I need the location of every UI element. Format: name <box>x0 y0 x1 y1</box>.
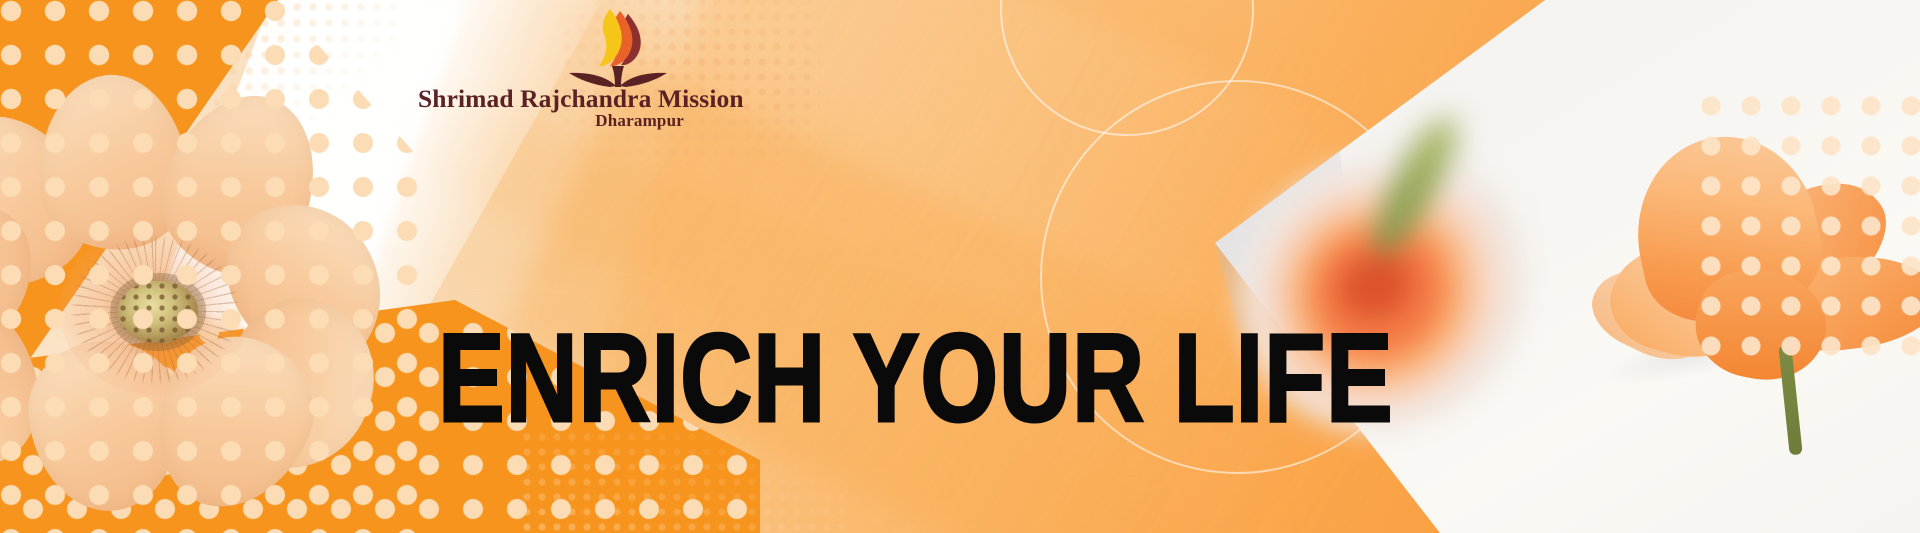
flame-over-open-book-icon <box>566 8 670 88</box>
poppy-flower <box>1600 95 1920 425</box>
logo-organization-name: Shrimad Rajchandra Mission <box>418 86 688 112</box>
logo-location: Dharampur <box>418 112 688 129</box>
promotional-banner: Shrimad Rajchandra Mission Dharampur ENR… <box>0 0 1920 533</box>
logo[interactable]: Shrimad Rajchandra Mission Dharampur <box>418 8 688 133</box>
page-title: ENRICH YOUR LIFE <box>438 316 1393 441</box>
